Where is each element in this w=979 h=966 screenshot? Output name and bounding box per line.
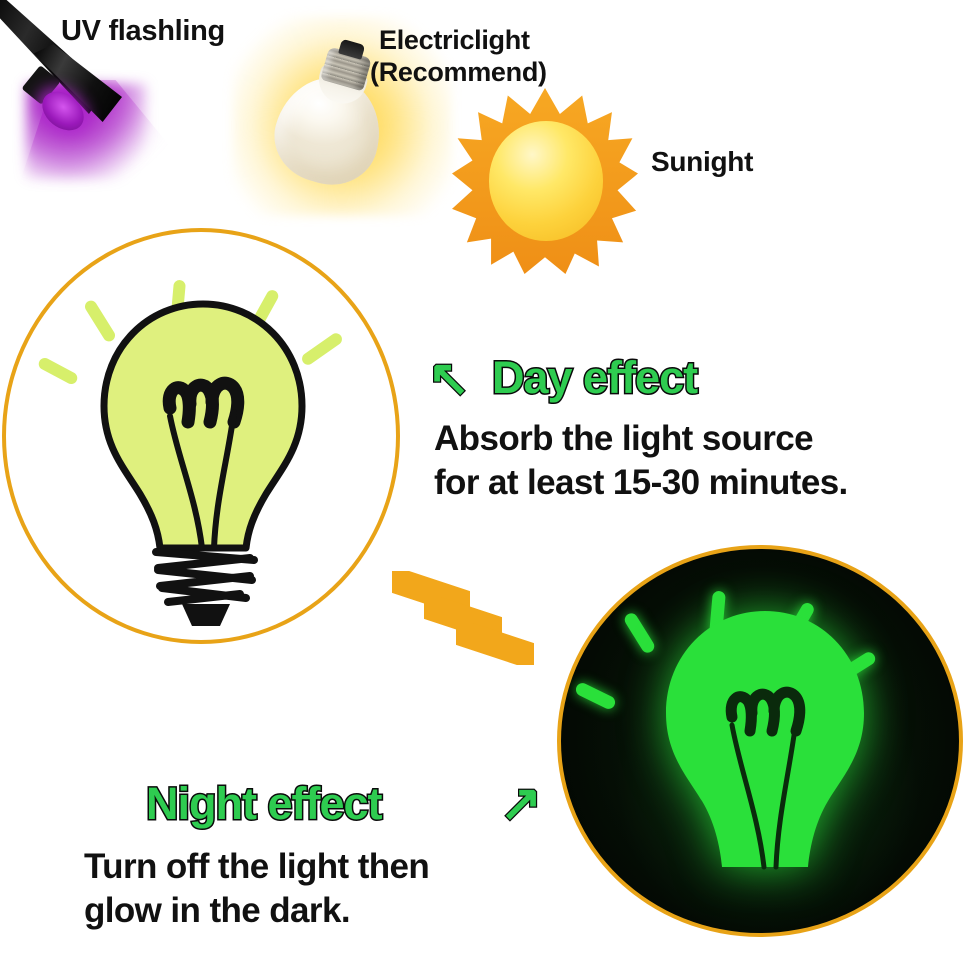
night-effect-body-line1: Turn off the light then bbox=[84, 846, 429, 889]
day-effect-body-line2: for at least 15-30 minutes. bbox=[434, 462, 848, 505]
night-glowing-bulb-icon bbox=[640, 605, 890, 925]
night-effect-body-line2: glow in the dark. bbox=[84, 890, 350, 933]
sunlight-label: Sunight bbox=[651, 147, 753, 177]
night-ray bbox=[574, 681, 617, 711]
arrow-up-left-icon: ↖ bbox=[428, 349, 470, 407]
day-bulb-contact bbox=[182, 604, 230, 626]
day-bulb-screw-coil bbox=[156, 552, 254, 602]
day-effect-heading: Day effect bbox=[492, 352, 697, 404]
chevron-arrow-3 bbox=[456, 623, 534, 665]
sun-disc bbox=[489, 121, 602, 240]
sun-icon bbox=[452, 88, 638, 274]
day-bulb-glass bbox=[104, 304, 302, 548]
arrow-up-right-icon: ↗ bbox=[500, 774, 542, 832]
night-effect-heading: Night effect bbox=[146, 778, 382, 830]
electric-light-label-line1: Electriclight bbox=[379, 26, 530, 55]
day-bulb-icon bbox=[78, 298, 328, 628]
day-ray bbox=[37, 356, 80, 386]
uv-flashlight-label: UV flashling bbox=[61, 16, 225, 47]
infographic-canvas: UV flashling Electriclight (Recommend) S… bbox=[0, 0, 979, 966]
day-effect-body-line1: Absorb the light source bbox=[434, 418, 813, 461]
electric-light-label-line2: (Recommend) bbox=[370, 58, 547, 87]
night-bulb-glass bbox=[666, 611, 864, 867]
